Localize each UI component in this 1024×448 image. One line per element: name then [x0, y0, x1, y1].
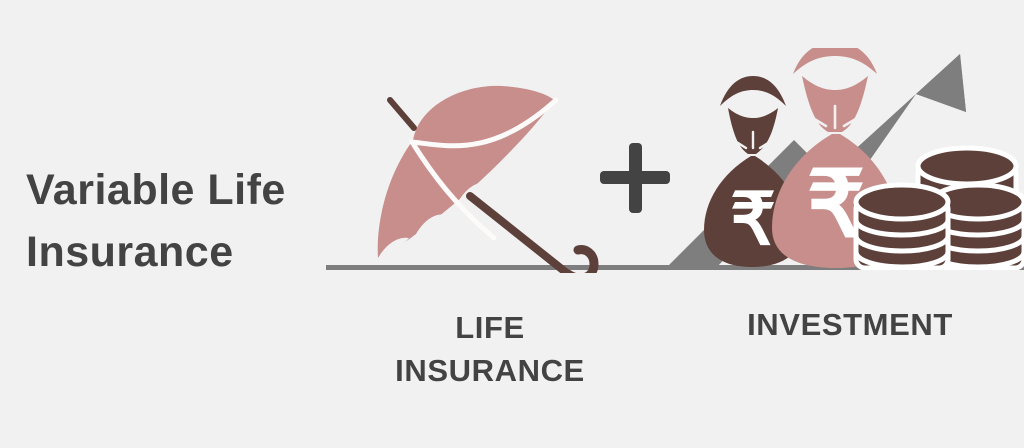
- umbrella-ferrule-icon: [390, 100, 414, 128]
- umbrella-shaft: [470, 196, 568, 273]
- infographic-canvas: Variable Life Insurance: [0, 0, 1024, 448]
- money-bag-dark-tie: [720, 76, 786, 106]
- coin-front-left-top: [856, 185, 948, 219]
- up-trend-arrow-head: [916, 54, 966, 112]
- rupee-symbol-dark-bag: ₹: [730, 180, 776, 260]
- page-title: Variable Life Insurance: [26, 160, 326, 284]
- title-line-2: Insurance: [26, 222, 326, 284]
- investment-growth-icon: ₹ ₹: [660, 48, 1024, 270]
- coin-back-top: [918, 148, 1016, 184]
- coin-stack-icon-front-left: [856, 185, 948, 268]
- umbrella-canopy: [378, 86, 554, 258]
- caption-life-line-1: LIFE: [350, 307, 630, 350]
- umbrella-icon: [372, 78, 602, 273]
- umbrella-handle-hook: [568, 250, 594, 273]
- caption-investment-line-1: INVESTMENT: [700, 307, 1000, 343]
- caption-investment: INVESTMENT: [700, 307, 1000, 343]
- title-line-1: Variable Life: [26, 160, 326, 222]
- caption-life-line-2: INSURANCE: [350, 350, 630, 393]
- caption-life-insurance: LIFE INSURANCE: [350, 307, 630, 393]
- money-bag-pink-tie: [793, 48, 877, 74]
